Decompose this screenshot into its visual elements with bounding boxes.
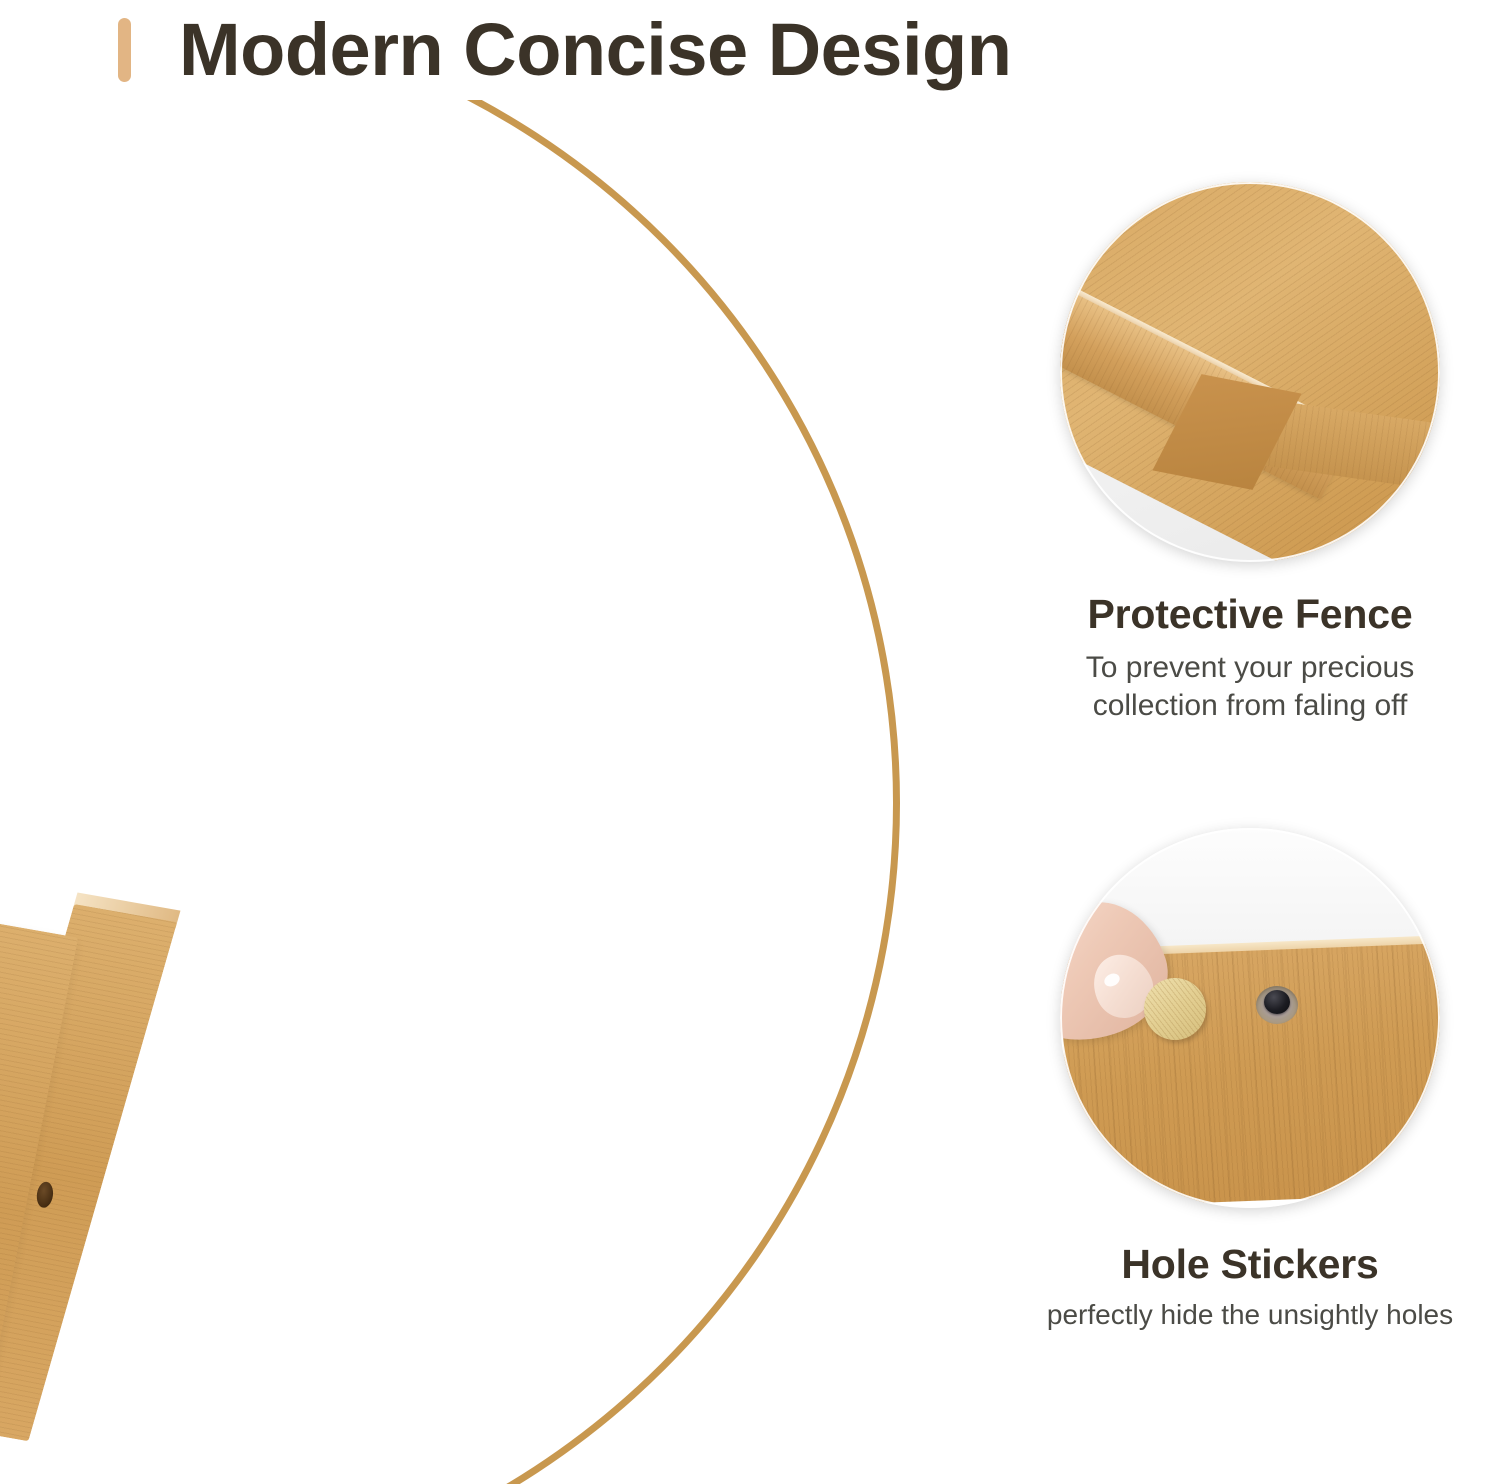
feature-1-title: Protective Fence (1000, 592, 1500, 637)
feature-hole-stickers: Hole Stickers perfectly hide the unsight… (1000, 828, 1500, 1332)
feature-column: Protective Fence To prevent your preciou… (1000, 100, 1500, 1484)
feature-1-subtitle: To prevent your precious collection from… (1000, 649, 1500, 725)
screw-head-icon (1264, 990, 1290, 1014)
feature-protective-fence: Protective Fence To prevent your preciou… (1000, 182, 1500, 725)
infographic-page: Modern Concise Design (0, 0, 1500, 1484)
accent-bar-icon (118, 18, 131, 82)
feature-2-title: Hole Stickers (1000, 1242, 1500, 1287)
hole-sticker-icon (1144, 978, 1206, 1040)
hero-circle-frame (0, 100, 900, 1484)
bottom-shelf-product (0, 773, 261, 1484)
top-shelf-product (0, 100, 100, 695)
hero-product-image (0, 100, 1000, 1484)
header: Modern Concise Design (0, 0, 1500, 100)
feature-1-subtitle-line-2: collection from faling off (1016, 687, 1484, 725)
page-title: Modern Concise Design (179, 13, 1011, 87)
feature-1-subtitle-line-1: To prevent your precious (1016, 649, 1484, 687)
feature-1-image (1060, 182, 1440, 562)
feature-2-subtitle: perfectly hide the unsightly holes (1000, 1297, 1500, 1332)
feature-2-image (1060, 828, 1440, 1208)
hero-circle-clip (0, 100, 900, 1484)
feature-2-subtitle-line-1: perfectly hide the unsightly holes (1004, 1297, 1496, 1332)
